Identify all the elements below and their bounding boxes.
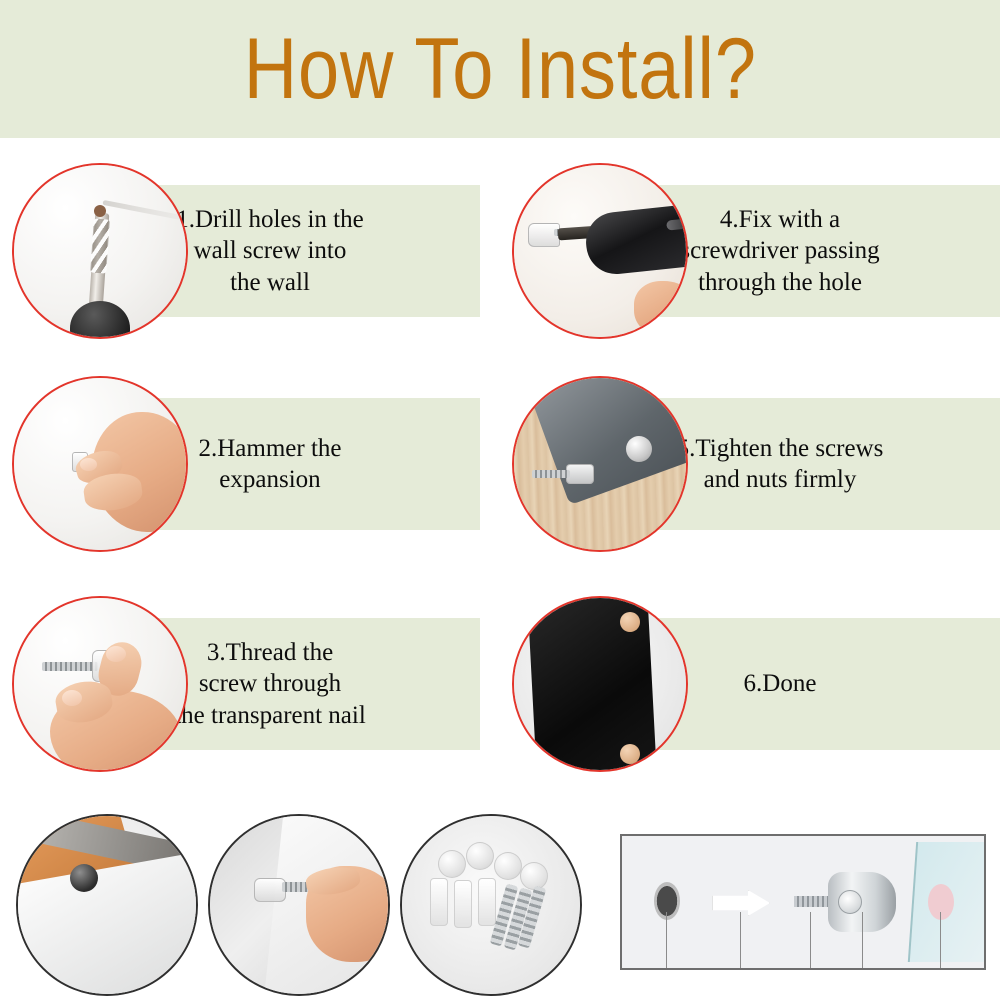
hardware-kit-photo [400,814,582,996]
gallery-row [0,812,1000,1000]
step-card-4: 4.Fix with a screwdriver passing through… [500,163,1000,373]
finished-mounted-panel-photo [512,596,688,772]
assembly-exploded-diagram [620,834,986,970]
step-6-text: 6.Done [736,668,825,699]
diagram-wall-plug [712,890,770,916]
hammer-expansion-anchor-photo [12,376,188,552]
electric-screwdriver-photo [512,163,688,339]
hand-installing-standoff [208,814,390,996]
step-card-6: 6.Done [500,596,1000,806]
step-1-text: 1.Drill holes in the wall screw into the… [168,204,371,298]
step-card-2: 2.Hammer the expansion [0,376,500,586]
step-3-text: 3.Thread the screw through the transpare… [166,637,374,731]
step-card-1: 1.Drill holes in the wall screw into the… [0,163,500,373]
thread-screw-through-nail-photo [12,596,188,772]
diagram-gasket [928,884,954,920]
page-title: How To Install? [243,26,756,112]
mounted-standoff-closeup [16,814,198,996]
drill-bit-into-wall-photo [12,163,188,339]
step-card-3: 3.Thread the screw through the transpare… [0,596,500,806]
title-banner: How To Install? [0,0,1000,138]
tighten-screws-nuts-photo [512,376,688,552]
diagram-wall-hole [654,882,680,920]
step-5-text: 5.Tighten the screws and nuts firmly [669,433,892,496]
diagram-screw [794,896,828,907]
step-card-5: 5.Tighten the screws and nuts firmly [500,376,1000,586]
step-4-text: 4.Fix with a screwdriver passing through… [672,204,887,298]
step-2-text: 2.Hammer the expansion [190,433,349,496]
